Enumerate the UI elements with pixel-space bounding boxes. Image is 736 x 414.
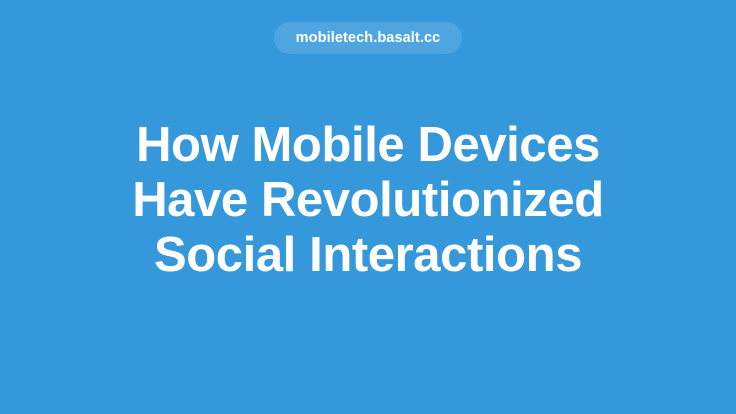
article-link-preview-card: mobiletech.basalt.cc How Mobile Devices … <box>0 0 736 414</box>
domain-badge: mobiletech.basalt.cc <box>274 22 463 54</box>
headline: How Mobile Devices Have Revolutionized S… <box>0 118 736 283</box>
headline-line-1: How Mobile Devices <box>136 118 600 173</box>
headline-line-2: Have Revolutionized <box>132 173 604 228</box>
domain-badge-label: mobiletech.basalt.cc <box>296 31 441 46</box>
headline-line-3: Social Interactions <box>154 228 582 283</box>
